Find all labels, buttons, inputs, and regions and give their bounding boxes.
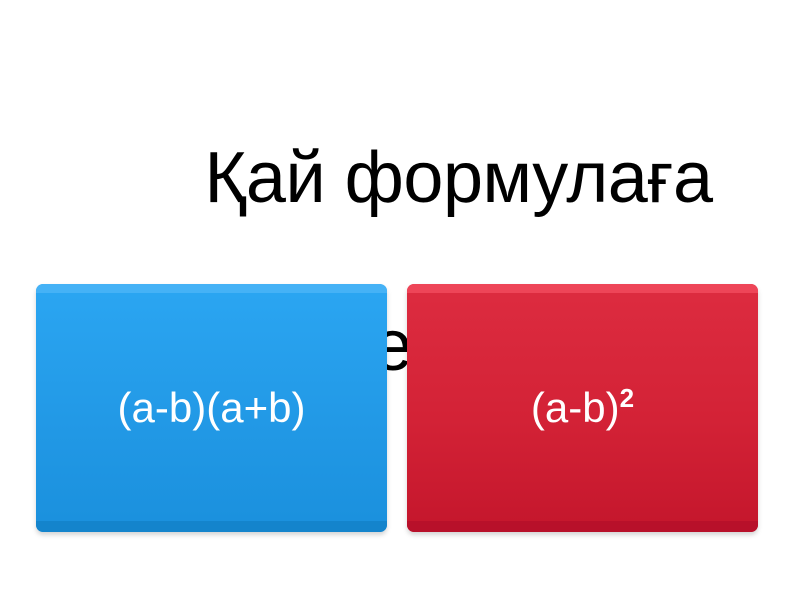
question-line-1: Қай формулаға — [204, 138, 712, 218]
answer-option-red-label: (a-b)2 — [517, 384, 648, 432]
answer-option-blue[interactable]: (a-b)(a+b) — [36, 284, 387, 532]
answer-options-grid: (a-b)(a+b) (a-b)2 — [36, 284, 758, 532]
answer-option-red[interactable]: (a-b)2 — [407, 284, 758, 532]
answer-option-red-text: (a-b) — [531, 384, 620, 431]
quiz-question-screen: Қай формулаға сәйкес? a2 - b2 (a-b)(a+b)… — [0, 0, 800, 600]
answer-option-blue-label: (a-b)(a+b) — [104, 384, 320, 432]
answer-option-red-exponent: 2 — [620, 383, 634, 413]
answer-option-blue-text: (a-b)(a+b) — [118, 384, 306, 431]
